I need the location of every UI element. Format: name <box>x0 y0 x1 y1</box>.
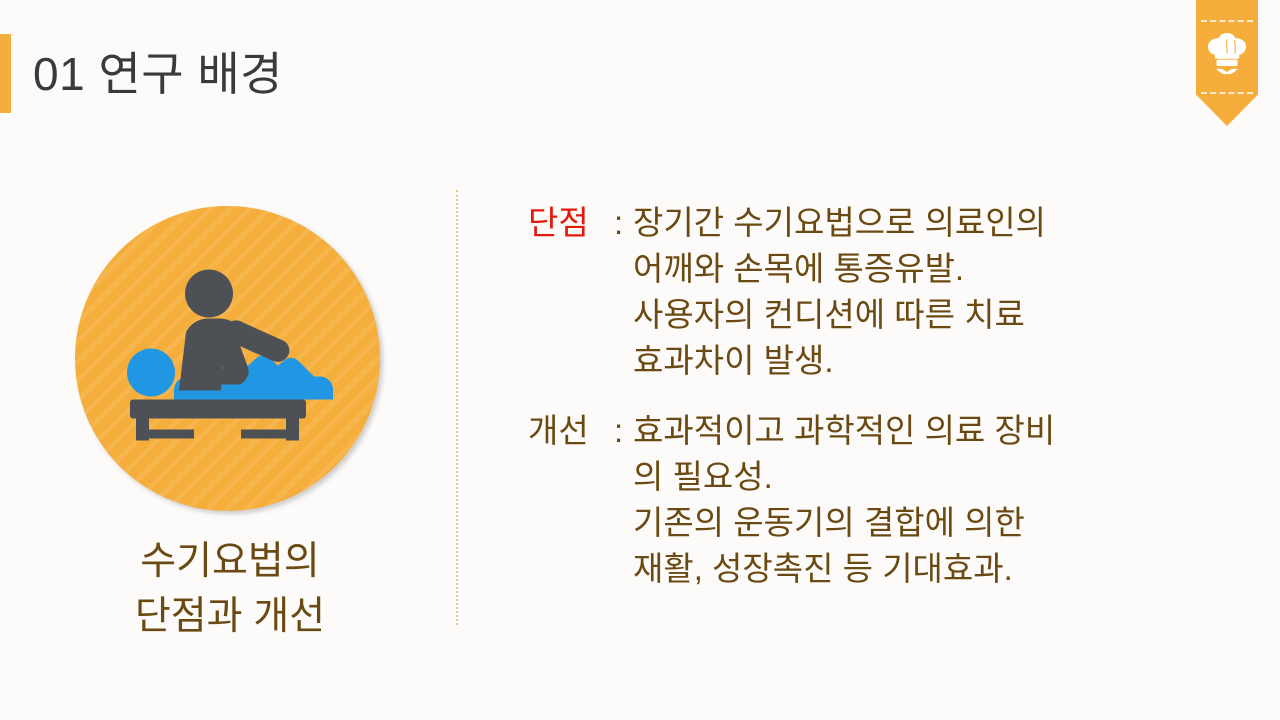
block-label-disadvantage: 단점 <box>528 200 589 246</box>
content-text-area: 단점 : 장기간 수기요법으로 의료인의 어깨와 손목에 통증유발. 사용자의 … <box>528 200 1228 616</box>
vertical-dotted-divider <box>456 190 458 625</box>
illustration-caption: 수기요법의 단점과 개선 <box>60 534 400 645</box>
massage-illustration-circle <box>75 206 380 511</box>
block-label-improvement: 개선 <box>528 408 589 454</box>
block-lines-disadvantage: 장기간 수기요법으로 의료인의 어깨와 손목에 통증유발. 사용자의 컨디션에 … <box>633 200 1228 384</box>
text-block-improvement: 개선 : 효과적이고 과학적인 의료 장비 의 필요성. 기존의 운동기의 결합… <box>528 408 1228 592</box>
ribbon-dashed-line-bottom <box>1201 92 1253 94</box>
text-block-disadvantage: 단점 : 장기간 수기요법으로 의료인의 어깨와 손목에 통증유발. 사용자의 … <box>528 200 1228 384</box>
chef-hat-mustache-icon <box>1205 30 1249 80</box>
title-accent-bar <box>0 34 11 113</box>
block-lines-improvement: 효과적이고 과학적인 의료 장비 의 필요성. 기존의 운동기의 결합에 의한 … <box>633 408 1228 592</box>
massage-therapy-icon <box>108 266 348 451</box>
ribbon-dashed-line-top <box>1201 20 1253 22</box>
slide-title-bar: 01 연구 배경 <box>0 34 283 113</box>
block-colon-improvement: : <box>614 408 623 454</box>
corner-ribbon-bookmark <box>1196 0 1258 126</box>
page-title: 01 연구 배경 <box>33 51 283 97</box>
block-colon-disadvantage: : <box>614 200 623 246</box>
